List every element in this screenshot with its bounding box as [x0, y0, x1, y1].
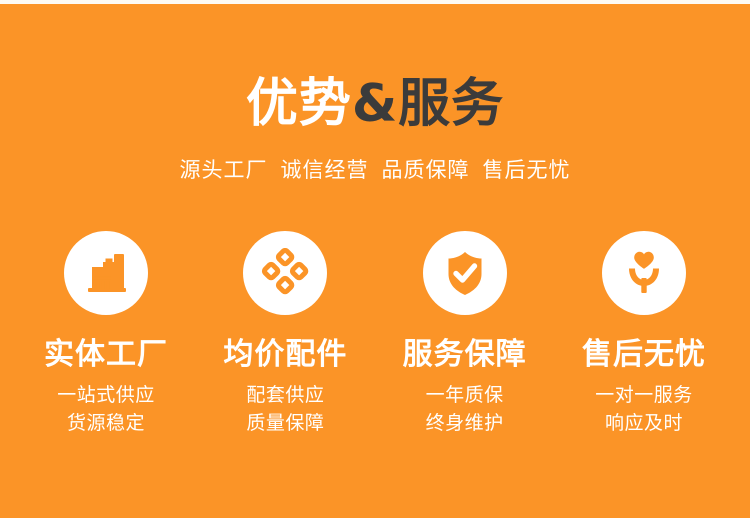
feature-icon-circle — [64, 231, 148, 315]
feature-title: 服务保障 — [403, 315, 527, 373]
subtitle-item-3: 品质保障 — [382, 158, 470, 182]
feature-title: 实体工厂 — [44, 315, 168, 373]
feature-desc-line-1: 一站式供应 — [57, 373, 155, 408]
page-title-dark-part: &服务 — [352, 74, 504, 134]
top-strip — [0, 0, 750, 4]
feature-icon-circle — [243, 231, 327, 315]
feature-title: 均价配件 — [223, 315, 347, 373]
promo-banner: 优势&服务 源头工厂诚信经营品质保障售后无忧 — [0, 0, 750, 518]
feature-icon-circle — [423, 231, 507, 315]
feature-desc-line-2: 响应及时 — [605, 408, 683, 436]
feature-desc-line-2: 终身维护 — [426, 408, 504, 436]
feature-desc-line-2: 货源稳定 — [67, 408, 145, 436]
heading-block: 优势&服务 源头工厂诚信经营品质保障售后无忧 — [0, 74, 750, 184]
feature-item-parts: 均价配件 配套供应 质量保障 — [201, 231, 369, 436]
feature-list: 实体工厂 一站式供应 货源稳定 均价配件 — [0, 231, 750, 436]
heart-in-hands-icon — [619, 248, 669, 298]
feature-desc-line-1: 一对一服务 — [595, 373, 693, 408]
subtitle-item-2: 诚信经营 — [281, 158, 369, 182]
feature-item-aftersales: 售后无忧 一对一服务 响应及时 — [560, 231, 728, 436]
feature-desc-line-2: 质量保障 — [246, 408, 324, 436]
subtitle-item-4: 售后无忧 — [483, 158, 571, 182]
feature-item-warranty: 服务保障 一年质保 终身维护 — [381, 231, 549, 436]
feature-title: 售后无忧 — [582, 315, 706, 373]
feature-icon-circle — [602, 231, 686, 315]
subtitle-item-1: 源头工厂 — [180, 158, 268, 182]
feature-desc-line-1: 一年质保 — [426, 373, 504, 408]
shield-check-icon — [440, 248, 490, 298]
feature-desc-line-1: 配套供应 — [246, 373, 324, 408]
page-title: 优势&服务 — [0, 74, 750, 134]
factory-icon — [81, 248, 131, 298]
page-title-light-part: 优势 — [246, 74, 352, 134]
four-diamonds-parts-icon — [260, 248, 310, 298]
subtitle: 源头工厂诚信经营品质保障售后无忧 — [0, 134, 750, 184]
feature-item-factory: 实体工厂 一站式供应 货源稳定 — [22, 231, 190, 436]
